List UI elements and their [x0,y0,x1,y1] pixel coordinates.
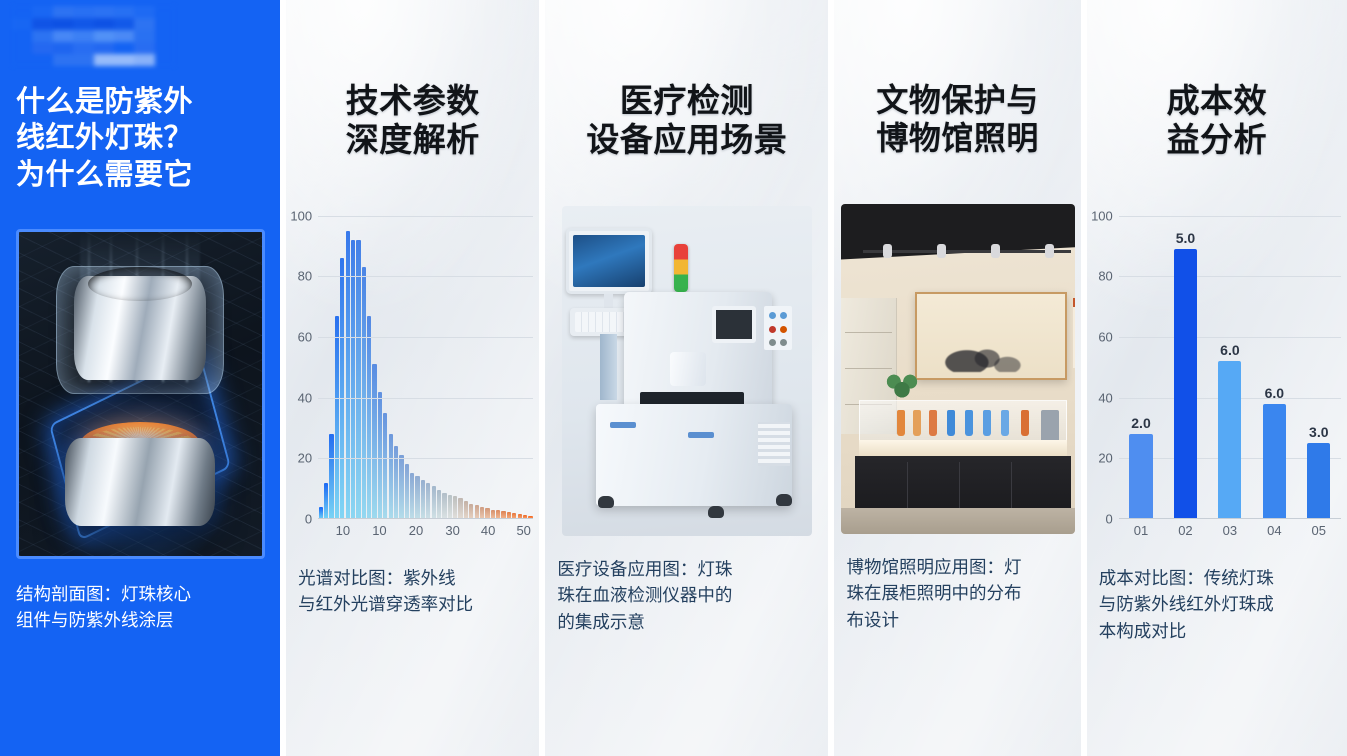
y-tick-label: 20 [1098,451,1112,466]
exhibit-artifact [1021,410,1029,436]
panel-what-is[interactable]: 什么是防紫外 线红外灯珠？ 为什么需要它 结构剖面图：灯珠核心 组件与防紫外线涂… [0,0,280,756]
y-tick-label: 40 [1098,390,1112,405]
y-tick-label: 0 [1106,511,1113,526]
histogram-bar [324,483,328,519]
y-tick-label: 80 [1098,269,1112,284]
scroll-painting [915,292,1067,380]
gridline [318,337,533,338]
page-title: 医疗检测 设备应用场景 [545,82,828,160]
y-tick-label: 60 [298,330,312,345]
y-tick-label: 80 [298,269,312,284]
exhibit-artifact [913,410,921,436]
histogram-bar [383,413,387,519]
panel-title-wrap: 技术参数 深度解析 [286,82,539,160]
track-spotlight [937,244,946,258]
x-axis-labels: 0102030405 [1119,523,1341,543]
x-tick-label: 10 [336,523,350,538]
histogram-bar [464,501,468,519]
bar [1218,361,1241,519]
potted-plant [885,366,919,400]
panel-title-wrap: 什么是防紫外 线红外灯珠？ 为什么需要它 [0,84,280,193]
histogram-bar [415,476,419,518]
panel-title-wrap: 医疗检测 设备应用场景 [545,82,828,160]
panel-caption: 医疗设备应用图：灯珠 珠在血液检测仪器中的 的集成示意 [545,556,828,636]
gridline [318,216,533,217]
workstation-monitor [566,228,652,294]
histogram-bar [394,446,398,519]
panel-caption: 光谱对比图：紫外线 与红外光谱穿透率对比 [286,565,539,618]
track-spotlight [1045,244,1054,258]
histogram-bar [356,240,360,519]
exhibit-artifact [929,410,937,436]
panel-caption: 博物馆照明应用图：灯 珠在展柜照明中的分布 布设计 [834,554,1080,634]
gridline [1119,216,1341,217]
histogram-bar [399,455,403,519]
bar-value-label: 6.0 [1220,342,1239,358]
caster-wheel [776,494,792,506]
histogram-bar [458,498,462,519]
ventilation-grille [758,422,790,466]
gridline [1119,337,1341,338]
x-tick-label: 50 [516,523,530,538]
upper-metal-housing [74,276,206,380]
lower-metal-base [65,438,215,526]
medical-analyzer-image [562,206,812,536]
caster-wheel [708,506,724,518]
histogram-bar [453,496,457,519]
cabinet-handle [688,432,714,438]
histogram-bar [432,486,436,519]
panel-title-wrap: 成本效 益分析 [1087,82,1347,160]
track-spotlight [991,244,1000,258]
spectrum-histogram-chart: 020406080100 101020304050 [286,210,539,545]
histogram-bar [426,483,430,519]
histogram-bar [367,316,371,519]
x-tick-label: 05 [1312,523,1326,538]
histogram-bar [405,464,409,519]
page-title: 什么是防紫外 线红外灯珠？ 为什么需要它 [16,84,264,193]
control-button-panel [764,306,792,350]
y-tick-label: 40 [298,390,312,405]
cabinet-handle [610,422,636,428]
panel-caption: 成本对比图：传统灯珠 与防紫外线红外灯珠成 本构成对比 [1087,565,1347,645]
exhibit-artifact [897,410,905,436]
gridline [1119,276,1341,277]
exhibit-artifact [983,410,991,436]
track-spotlight [883,244,892,258]
histogram-bar [437,490,441,519]
bar [1129,434,1152,519]
histogram-bar [340,258,344,519]
bar [1263,404,1286,519]
y-axis-labels: 020406080100 [286,210,316,545]
histogram-bar [346,231,350,519]
histogram-bar [335,316,339,519]
histogram-bar [389,434,393,519]
x-tick-label: 40 [481,523,495,538]
histogram-bar [469,504,473,519]
x-tick-label: 10 [372,523,386,538]
cart-column [600,334,617,400]
signal-tower-light [674,244,688,292]
exhibit-lantern [1041,410,1059,442]
y-tick-label: 20 [298,451,312,466]
x-tick-label: 02 [1178,523,1192,538]
x-axis-labels: 101020304050 [318,523,533,543]
infographic-board: 什么是防紫外 线红外灯珠？ 为什么需要它 结构剖面图：灯珠核心 组件与防紫外线涂… [0,0,1347,756]
museum-exhibit-image [841,204,1075,534]
panel-cost-benefit[interactable]: 成本效 益分析 020406080100 2.05.06.06.03.0 010… [1087,0,1347,756]
page-title: 文物保护与 博物馆照明 [834,82,1080,158]
y-tick-label: 0 [305,511,312,526]
histogram-bar [410,473,414,518]
histogram-bar [362,267,366,518]
gridline [318,458,533,459]
exhibit-artifact [947,410,955,436]
x-tick-label: 04 [1267,523,1281,538]
bar [1307,443,1330,519]
panel-caption: 结构剖面图：灯珠核心 组件与防紫外线涂层 [0,581,280,634]
histogram-bar [475,505,479,519]
plot-area: 2.05.06.06.03.0 [1119,216,1341,519]
histogram-bar [421,480,425,519]
cost-bar-chart: 020406080100 2.05.06.06.03.0 0102030405 [1087,210,1347,545]
y-axis-labels: 020406080100 [1087,210,1117,545]
bar-value-label: 2.0 [1131,415,1150,431]
page-title: 成本效 益分析 [1087,82,1347,160]
histogram-bar [448,495,452,519]
x-tick-label: 03 [1223,523,1237,538]
x-axis-line [1119,518,1341,519]
histogram-bar [329,434,333,519]
wall-info-placard [1073,298,1075,368]
exhibit-artifact [965,410,973,436]
lighting-track [863,250,1071,253]
histogram-bars [318,216,533,519]
histogram-bar [351,240,355,519]
bar-value-label: 5.0 [1176,230,1195,246]
bar [1174,249,1197,519]
y-tick-label: 100 [290,208,312,223]
y-tick-label: 100 [1091,208,1113,223]
histogram-bar [378,392,382,519]
instrument-display [712,306,756,343]
histogram-bar [372,364,376,519]
page-title: 技术参数 深度解析 [286,82,539,160]
panel-medical[interactable]: 医疗检测 设备应用场景 [545,0,828,756]
redaction-mosaic [12,6,175,66]
gridline [318,276,533,277]
y-tick-label: 60 [1098,330,1112,345]
panel-title-wrap: 文物保护与 博物馆照明 [834,82,1080,158]
gridline [318,398,533,399]
panel-museum[interactable]: 文物保护与 博物馆照明 [834,0,1080,756]
bar-value-label: 6.0 [1265,385,1284,401]
caster-wheel [598,496,614,508]
bar-value-label: 3.0 [1309,424,1328,440]
x-tick-label: 01 [1134,523,1148,538]
plot-area [318,216,533,519]
exhibit-artifact [1001,410,1009,436]
x-axis-line [318,518,533,519]
x-tick-label: 30 [445,523,459,538]
optical-head [670,352,706,386]
x-tick-label: 20 [409,523,423,538]
led-component-image [16,229,265,559]
gallery-floor [841,508,1075,534]
panel-tech-params[interactable]: 技术参数 深度解析 020406080100 101020304050 光谱对比… [286,0,539,756]
histogram-bar [442,493,446,519]
